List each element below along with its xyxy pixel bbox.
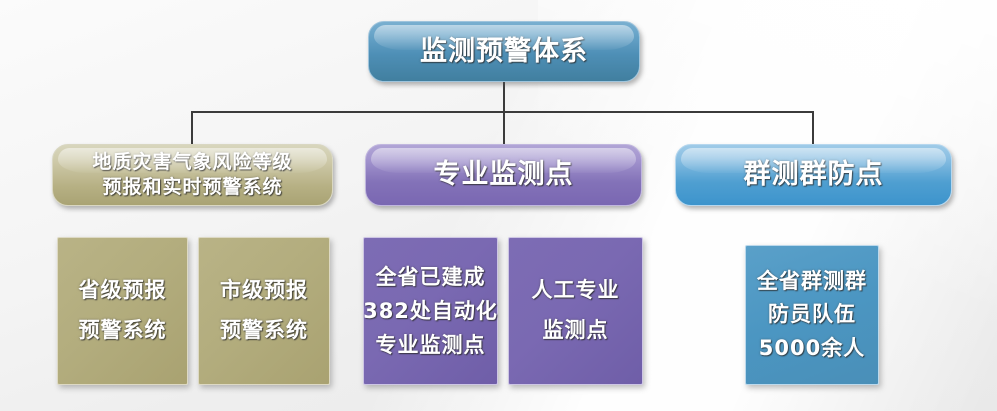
node-leaf-provincial-system-line-2: 预警系统: [79, 311, 167, 351]
node-branch-geohazard-forecast-line-2: 预报和实时预警系统: [102, 175, 282, 200]
connector-drop-branch-3: [812, 111, 814, 146]
node-branch-professional-monitoring-label: 专业监测点: [434, 157, 574, 193]
node-branch-geohazard-forecast[interactable]: 地质灾害气象风险等级 预报和实时预警系统: [52, 144, 333, 206]
node-leaf-manual-stations[interactable]: 人工专业 监测点: [508, 237, 643, 385]
node-leaf-mass-prevention-team[interactable]: 全省群测群 防员队伍 5000余人: [745, 245, 879, 385]
node-branch-mass-monitoring-label: 群测群防点: [744, 157, 884, 193]
node-leaf-manual-stations-line-1: 人工专业: [532, 271, 620, 311]
node-leaf-mass-prevention-team-line-3: 5000余人: [759, 332, 865, 366]
node-root[interactable]: 监测预警体系: [368, 21, 640, 82]
connector-root-stem: [503, 82, 505, 113]
node-leaf-automated-stations[interactable]: 全省已建成 382处自动化 专业监测点: [363, 237, 498, 385]
node-leaf-automated-stations-line-2: 382处自动化: [363, 294, 498, 328]
node-leaf-municipal-system[interactable]: 市级预报 预警系统: [198, 237, 330, 385]
connector-drop-branch-2: [503, 111, 505, 146]
node-branch-mass-monitoring[interactable]: 群测群防点: [675, 144, 952, 206]
node-leaf-mass-prevention-team-line-2: 防员队伍: [768, 298, 856, 332]
node-leaf-automated-stations-line-1: 全省已建成: [376, 260, 486, 294]
node-leaf-mass-prevention-team-line-1: 全省群测群: [757, 265, 867, 299]
node-root-label: 监测预警体系: [420, 34, 588, 70]
node-leaf-manual-stations-line-2: 监测点: [543, 311, 609, 351]
diagram-canvas: 监测预警体系 地质灾害气象风险等级 预报和实时预警系统 专业监测点 群测群防点 …: [0, 0, 997, 411]
node-leaf-automated-stations-line-3: 专业监测点: [376, 328, 486, 362]
node-branch-professional-monitoring[interactable]: 专业监测点: [365, 144, 642, 206]
node-leaf-provincial-system[interactable]: 省级预报 预警系统: [57, 237, 188, 385]
connector-drop-branch-1: [191, 111, 193, 146]
node-leaf-provincial-system-line-1: 省级预报: [79, 271, 167, 311]
node-leaf-municipal-system-line-1: 市级预报: [220, 271, 308, 311]
node-branch-geohazard-forecast-line-1: 地质灾害气象风险等级: [92, 150, 292, 175]
node-leaf-municipal-system-line-2: 预警系统: [220, 311, 308, 351]
